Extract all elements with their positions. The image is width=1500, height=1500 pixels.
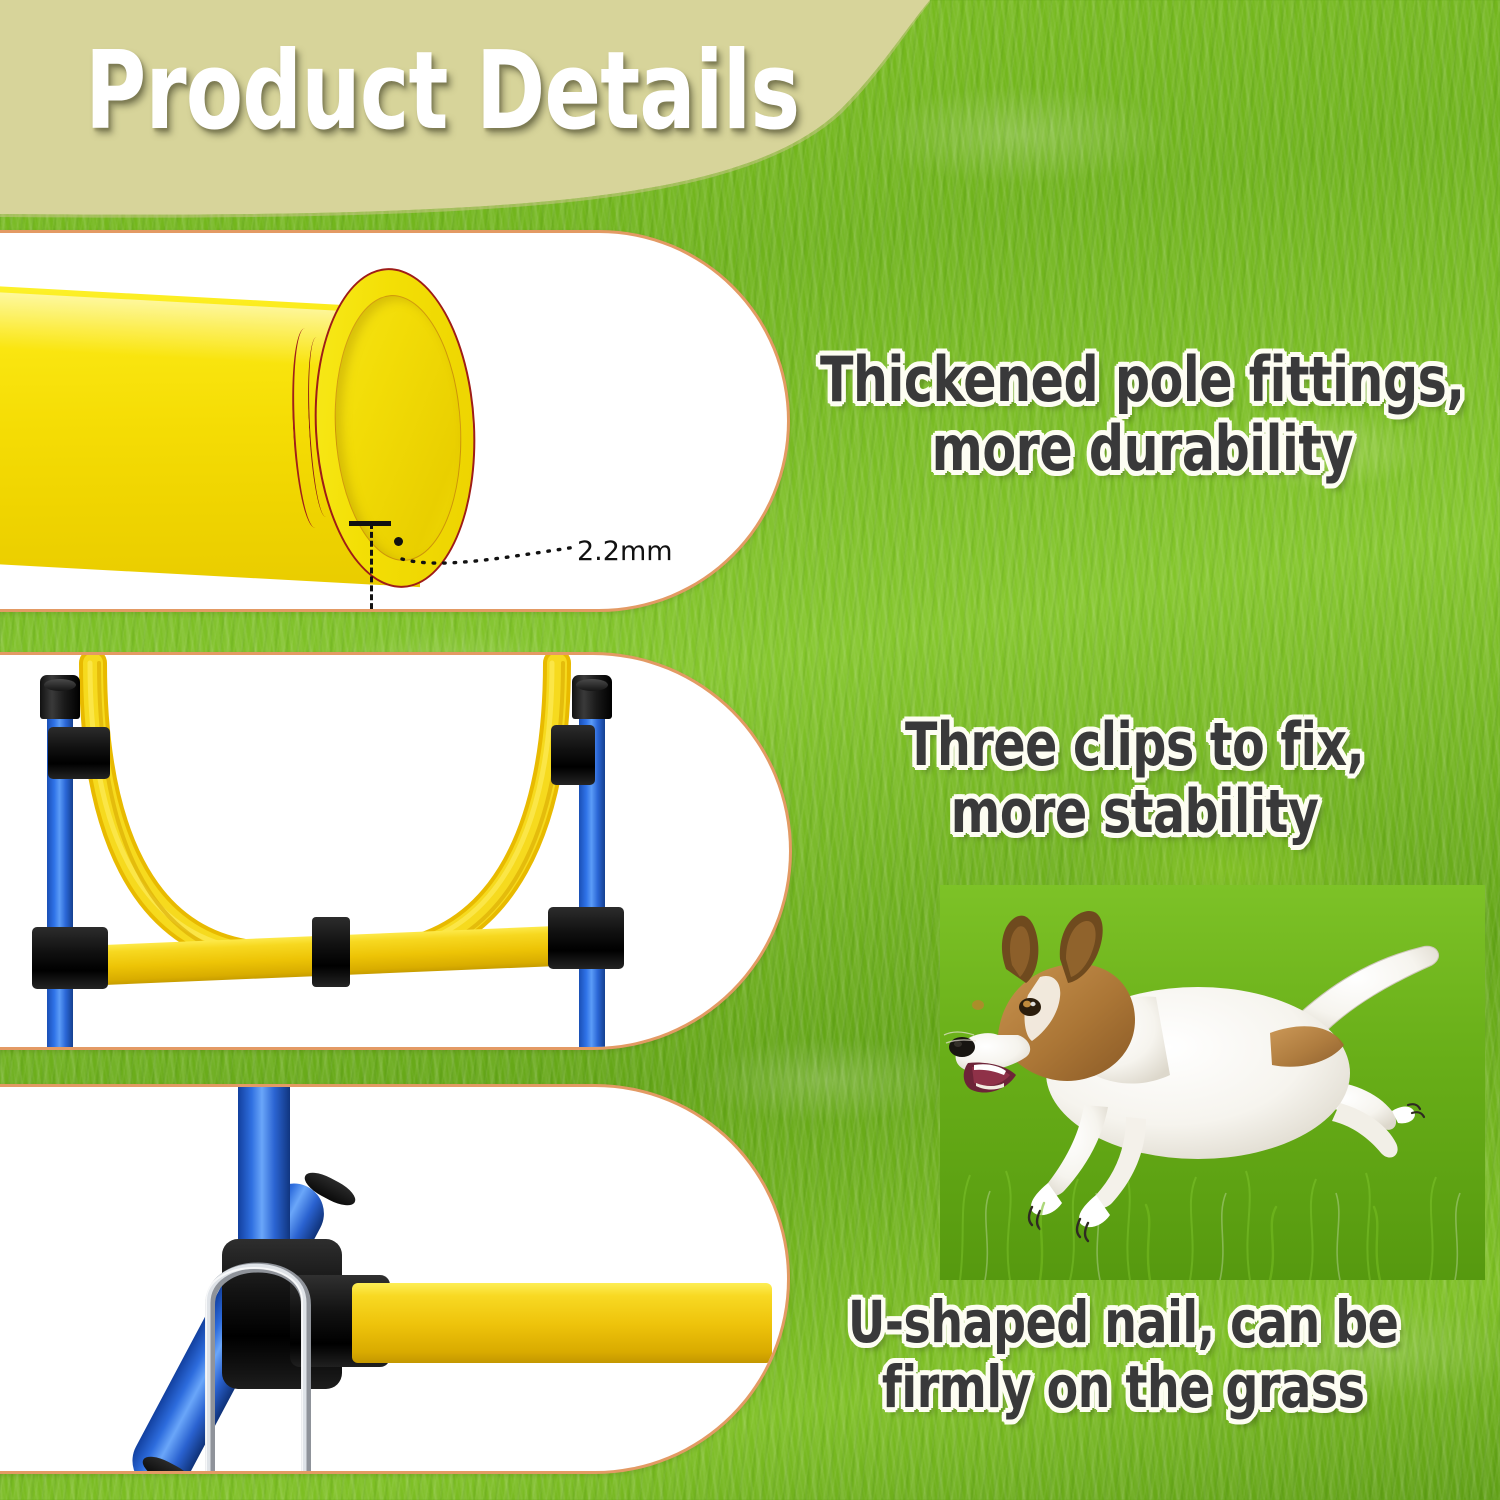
thickness-leader-line (400, 543, 570, 567)
callout-u-shaped-nail: U-shaped nail, can be firmly on the gras… (848, 1290, 1398, 1420)
pipe-dimension-panel: 27mm 2.2mm (0, 230, 790, 612)
dog-photo (940, 885, 1485, 1280)
diameter-dimension-line (370, 523, 373, 612)
u-nail-panel (0, 1084, 790, 1474)
hurdle-clips-panel (0, 652, 792, 1050)
callout-2-line-1: Three clips to fix, (905, 712, 1364, 779)
clip-top-left (48, 727, 110, 779)
callout-1-line-2: more durability (820, 414, 1465, 483)
page-title: Product Details (85, 38, 799, 146)
pole-cap-right (572, 675, 612, 719)
callout-2-line-2: more stability (905, 779, 1364, 846)
callout-three-clips-to-fix: Three clips to fix, more stability (905, 712, 1364, 846)
yellow-flexible-arc (0, 655, 792, 1050)
wall-thickness-label: 2.2mm (577, 536, 673, 567)
clip-bottom-left (32, 927, 108, 989)
callout-3-line-2: firmly on the grass (848, 1355, 1398, 1420)
header-banner: Product Details (0, 0, 930, 225)
callout-3-line-1: U-shaped nail, can be (848, 1290, 1398, 1355)
clip-center (312, 917, 350, 987)
clip-bottom-right (548, 907, 624, 969)
callout-1-line-1: Thickened pole fittings, (820, 345, 1465, 414)
pole-cap-left (40, 675, 80, 719)
callout-thickened-pole-fittings: Thickened pole fittings, more durability (820, 345, 1465, 484)
clip-top-right (551, 725, 595, 785)
